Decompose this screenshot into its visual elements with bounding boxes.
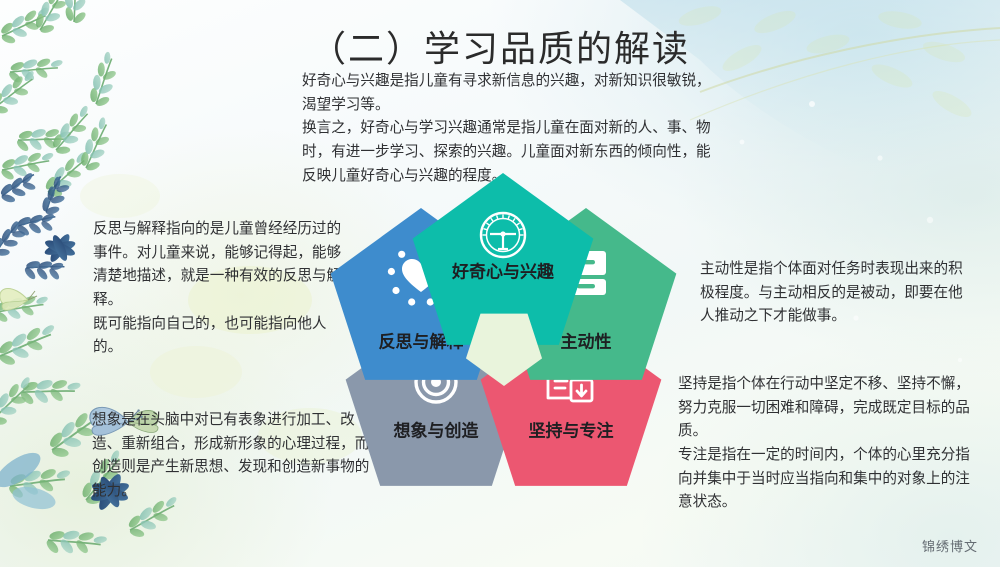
- butterfly-icon: [0, 289, 37, 311]
- pentagon-diagram: 想象与创造 坚持与专注: [318, 168, 688, 504]
- paragraph-persistence: 坚持是指个体在行动中坚定不移、坚持不懈，努力克服一切困难和障碍，完成既定目标的品…: [678, 373, 978, 515]
- pentagon-label-initiative: 主动性: [561, 331, 612, 351]
- watermark: 锦绣博文: [922, 536, 978, 555]
- pentagon-label-curiosity: 好奇心与兴趣: [451, 261, 555, 281]
- paragraph-initiative: 主动性是指个体面对任务时表现出来的积极程度。与主动相反的是被动，即要在他人推动之…: [700, 258, 972, 329]
- page-title: （二）学习品质的解读: [0, 20, 1000, 72]
- pentagon-label-persistence: 坚持与专注: [529, 420, 614, 440]
- pentagon-label-imagination: 想象与创造: [394, 420, 480, 440]
- slide-canvas: （二）学习品质的解读 好奇心与兴趣是指儿童有寻求新信息的兴趣，对新知识很敏锐，渴…: [0, 0, 1000, 567]
- paragraph-reflection: 反思与解释指向的是儿童曾经经历过的事件。对儿童来说，能够记得起，能够清楚地描述，…: [93, 218, 345, 360]
